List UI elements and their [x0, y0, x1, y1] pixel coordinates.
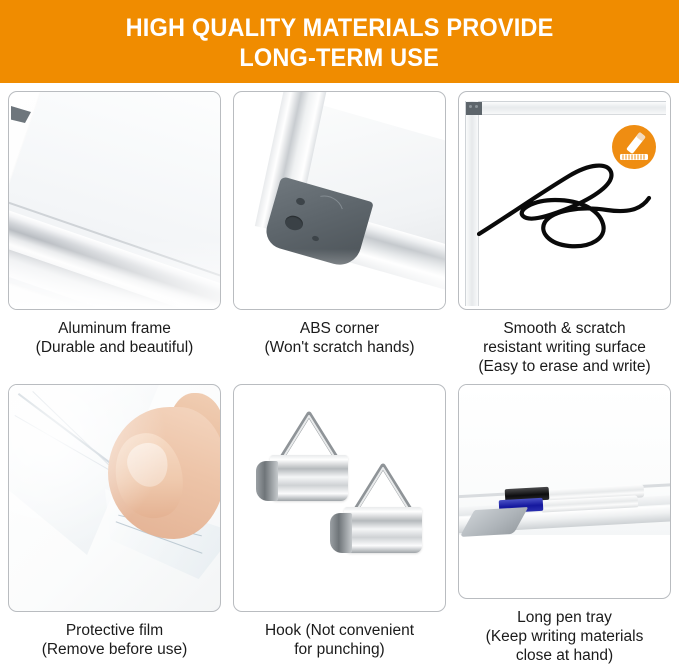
caption-line-1: Hook (Not convenient [230, 621, 450, 640]
hook-clip-body-2 [344, 507, 422, 553]
hook-clip-lip-1 [256, 461, 278, 501]
feature-grid: Aluminum frame (Durable and beautiful) A… [0, 83, 679, 665]
caption-line-2: (Durable and beautiful) [5, 338, 225, 357]
film-gloss-highlight [9, 385, 221, 604]
caption-line-3: close at hand) [455, 646, 675, 665]
feature-card-protective-film: Protective film (Remove before use) [8, 384, 221, 665]
caption-line-1: ABS corner [230, 319, 450, 338]
frame-corner-graphic [11, 106, 31, 123]
feature-card-hook: Hook (Not convenient for punching) [233, 384, 446, 665]
feature-caption-writing-surface: Smooth & scratch resistant writing surfa… [455, 319, 675, 376]
feature-card-abs-corner: ABS corner (Won't scratch hands) [233, 91, 446, 384]
feature-image-hook [233, 384, 446, 612]
caption-line-2: resistant writing surface [455, 338, 675, 357]
caption-line-2: (Won't scratch hands) [230, 338, 450, 357]
caption-line-2: (Remove before use) [5, 640, 225, 659]
feature-caption-aluminum-frame: Aluminum frame (Durable and beautiful) [5, 319, 225, 357]
caption-line-1: Protective film [5, 621, 225, 640]
header-banner: HIGH QUALITY MATERIALS PROVIDE LONG-TERM… [0, 0, 679, 83]
eraser-on-surface-icon [612, 125, 656, 169]
feature-image-protective-film [8, 384, 221, 612]
feature-caption-hook: Hook (Not convenient for punching) [230, 621, 450, 659]
hook-clip-lip-2 [330, 513, 352, 553]
header-title-line2: LONG-TERM USE [240, 43, 440, 73]
whiteboard-frame-top [465, 101, 666, 115]
feature-card-writing-surface: Smooth & scratch resistant writing surfa… [458, 91, 671, 384]
caption-line-2: (Keep writing materials [455, 627, 675, 646]
eraser-badge [612, 125, 656, 169]
caption-line-3: (Easy to erase and write) [455, 357, 675, 376]
feature-caption-abs-corner: ABS corner (Won't scratch hands) [230, 319, 450, 357]
frame-shadow-gradient [9, 239, 221, 309]
hook-clip-body-1 [270, 455, 348, 501]
feature-image-aluminum-frame [8, 91, 221, 310]
feature-image-writing-surface [458, 91, 671, 310]
feature-caption-protective-film: Protective film (Remove before use) [5, 621, 225, 659]
caption-line-1: Long pen tray [455, 608, 675, 627]
caption-line-2: for punching) [230, 640, 450, 659]
caption-line-1: Smooth & scratch [455, 319, 675, 338]
feature-image-pen-tray [458, 384, 671, 599]
feature-image-abs-corner [233, 91, 446, 310]
header-title-line1: HIGH QUALITY MATERIALS PROVIDE [126, 13, 554, 43]
feature-card-pen-tray: Long pen tray (Keep writing materials cl… [458, 384, 671, 665]
corner-reflection-gradient [234, 249, 446, 309]
whiteboard-corner-bracket [466, 102, 482, 115]
caption-line-1: Aluminum frame [5, 319, 225, 338]
feature-card-aluminum-frame: Aluminum frame (Durable and beautiful) [8, 91, 221, 384]
feature-caption-pen-tray: Long pen tray (Keep writing materials cl… [455, 608, 675, 665]
